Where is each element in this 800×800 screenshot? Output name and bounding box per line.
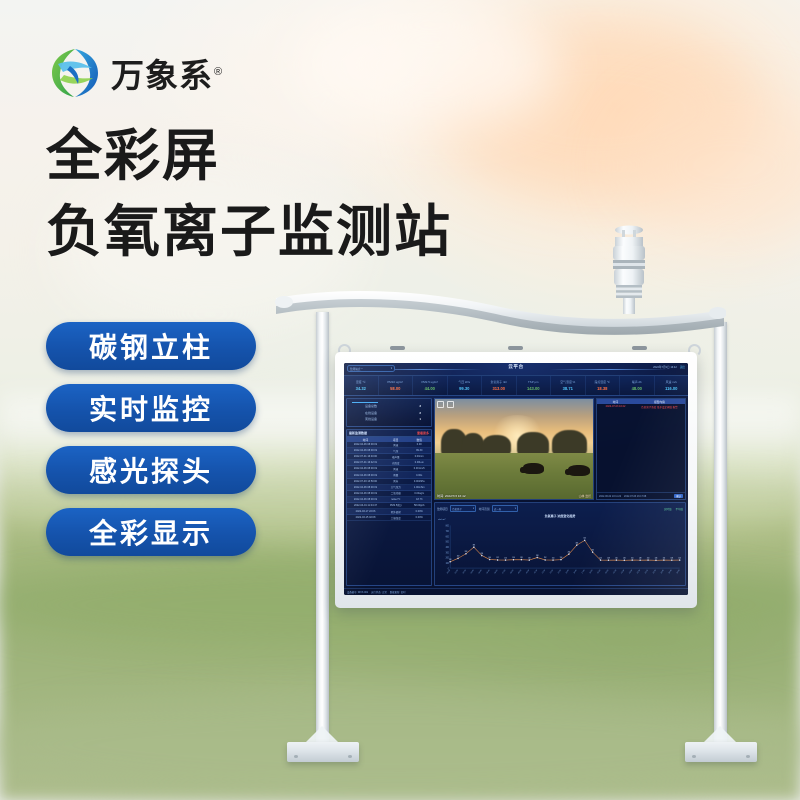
svg-text:23:58: 23:58: [668, 569, 672, 574]
table-cell: 58.00ppb: [407, 504, 431, 507]
table-cell: 二氧化碳: [384, 491, 408, 495]
table-cell: 2022-07-01 16:42:31: [347, 461, 384, 464]
svg-text:600: 600: [446, 536, 450, 538]
chevron-down-icon: ▾: [391, 367, 392, 370]
metric-card: PM10 ug/m³ 58.00: [379, 376, 414, 395]
metric-label: TSP µm: [528, 380, 538, 384]
svg-text:23:45: 23:45: [645, 569, 649, 574]
fullscreen-icon[interactable]: [437, 401, 444, 408]
station-select-value: 监测站点一: [350, 367, 363, 371]
metric-card: 风速 m/s 116.00: [655, 376, 689, 395]
column-header: 报警内容: [634, 400, 685, 404]
column-header: 时间: [597, 400, 634, 404]
headline-secondary: 负氧离子监测站: [46, 204, 452, 260]
alarm-footer-left: 2022-06-02 10:11:22: [599, 495, 621, 498]
table-cell: 99.30: [407, 449, 431, 452]
svg-text:520: 520: [583, 538, 586, 540]
brand-logo: 万象系®: [48, 46, 223, 100]
metric-card: PM2.5 ug/m³ 44.00: [413, 376, 448, 395]
table-cell: 噪声量: [384, 455, 408, 459]
dashboard-header: 云平台 监测站点一 ▾ 2022年7月3日 16:42 退出: [344, 363, 688, 375]
metric-value: 143.00: [527, 386, 540, 391]
metric-label: PM10 ug/m³: [387, 380, 403, 384]
svg-text:158: 158: [520, 557, 523, 559]
table-cell: PM2.5(粒): [384, 503, 408, 507]
camera-row: 时间: 2022/7/3 16:42 山林 监控 时间 报警内容 2022-07…: [434, 398, 686, 500]
metric-value: 38.71: [563, 386, 573, 391]
headline-primary: 全彩屏: [46, 128, 220, 184]
dashboard-footer: 设备编号: WXX-001 运行状态: 正常 数据更新: 实时: [344, 588, 688, 595]
metric-value: 18.38: [597, 386, 607, 391]
table-cell: 气压: [384, 449, 408, 453]
metric-label: 噪声 db: [632, 380, 642, 384]
cow-head: [520, 467, 526, 473]
metric-value: 116.00: [665, 386, 677, 391]
metric-label: 负氧离子 nbr: [490, 380, 507, 384]
svg-text:09:00: 09:00: [518, 569, 522, 574]
feature-badge-full-color-display: 全彩显示: [46, 508, 256, 556]
svg-text:148: 148: [671, 557, 674, 559]
alarm-message: 负氧离子浓度 低于设定阈值 报警: [634, 405, 685, 409]
svg-text:236: 236: [480, 553, 483, 555]
footer-item: 数据更新: 实时: [390, 590, 406, 594]
display-cabinet: 云平台 监测站点一 ▾ 2022年7月3日 16:42 退出 温度 ℃ 34.3…: [335, 352, 697, 608]
header-user-area: 2022年7月3日 16:42 退出: [653, 365, 685, 369]
logo-text: 万象系: [111, 57, 213, 94]
svg-text:11:00: 11:00: [534, 569, 538, 574]
svg-text:150: 150: [528, 557, 531, 559]
table-cell: 2022-04-01 11:04:47: [347, 504, 384, 507]
svg-text:21:00: 21:00: [613, 569, 617, 574]
left-column: 设备总数 3 在线设备 2 离线设备 1: [346, 398, 432, 586]
table-cell: 2022-04-06 08:00:19: [347, 467, 384, 470]
table-cell: 大气压力: [384, 485, 408, 489]
svg-text:118: 118: [449, 559, 451, 561]
alarm-row: 2022-07-03 16:42 负氧离子浓度 低于设定阈值 报警: [597, 404, 685, 409]
metric-value: 48.00: [632, 386, 642, 391]
alarm-footer: 2022-06-02 10:11:22 2022-07-03 16:17:08 …: [597, 492, 685, 500]
chart-filter-label-item: 监测项目: [437, 507, 448, 511]
svg-text:300: 300: [591, 549, 594, 551]
table-cell: 2022-04-06 08:00:19: [347, 498, 384, 501]
table-cell: 2022-04-06 08:00:19: [347, 492, 384, 495]
legend-item: 实时值: [664, 507, 672, 511]
metric-label: PM2.5 ug/m³: [421, 380, 438, 384]
svg-text:182: 182: [457, 556, 460, 558]
svg-text:10:00: 10:00: [526, 569, 530, 574]
table-cell: 紫外辐射: [384, 510, 408, 514]
table-cell: 0.00%: [407, 516, 431, 519]
table-cell: 2022-03-17 22:06: [347, 510, 384, 513]
stat-value: 2: [419, 411, 421, 415]
metric-card: TSP µm 143.00: [517, 376, 552, 395]
cow-head: [565, 469, 571, 475]
metric-label: 露点温度 ℃: [594, 380, 610, 384]
product-poster: 万象系® 全彩屏 负氧离子监测站 碳钢立柱 实时监控 感光探头 全彩显示: [0, 0, 800, 800]
table-cell: 2022-07-03 13:50:00: [347, 480, 384, 483]
chart-item-select[interactable]: 负氧离子 ▾: [450, 505, 476, 512]
metric-label: 温度 ℃: [356, 380, 366, 384]
svg-text:150: 150: [663, 557, 666, 559]
svg-text:198: 198: [536, 555, 539, 557]
table-cell: 土壤温度: [384, 516, 408, 520]
device-stats-panel: 设备总数 3 在线设备 2 离线设备 1: [346, 398, 432, 427]
table-cell: 风速: [384, 443, 408, 447]
footer-item: 设备编号: WXX-001: [347, 590, 368, 594]
table-cell: 0.00 km/h: [407, 467, 431, 470]
svg-text:22:00: 22:00: [621, 569, 625, 574]
cloud: [300, 0, 560, 130]
metric-strip: 温度 ℃ 34.32 PM10 ug/m³ 58.00 PM2.5 ug/m³ …: [344, 375, 688, 396]
metric-card: 噪声 db 48.00: [620, 376, 655, 395]
svg-text:06:00: 06:00: [494, 569, 498, 574]
latest-data-panel: 最新监测数据 查看更多 时间 项目 数值 2022-04-06 08:00:19…: [346, 429, 432, 586]
table-cell: 0.001hPa: [407, 480, 431, 483]
vent-slot: [508, 346, 523, 350]
chart-legend: 实时值 平均值: [664, 507, 683, 511]
metric-label: 风速 m/s: [666, 380, 677, 384]
svg-text:15:00: 15:00: [566, 569, 570, 574]
stat-value: 1: [419, 417, 421, 421]
alarm-time: 2022-07-03 16:42: [597, 405, 634, 408]
chart-title: 负氧离子 浓度变化趋势: [437, 514, 683, 518]
table-cell: 1.00mSm: [407, 486, 431, 489]
station-select[interactable]: 监测站点一 ▾: [347, 365, 395, 372]
metric-value: 313.00: [492, 386, 505, 391]
svg-text:150: 150: [552, 557, 555, 559]
grass-band: [0, 690, 800, 800]
svg-text:05:00: 05:00: [486, 569, 490, 574]
svg-text:300: 300: [446, 552, 450, 554]
snapshot-icon[interactable]: [447, 401, 454, 408]
alarm-confirm-button[interactable]: 确认: [674, 494, 683, 499]
camera-controls[interactable]: [437, 401, 454, 408]
metric-value: 44.00: [425, 386, 435, 391]
cow: [568, 465, 590, 476]
column-header: 项目: [384, 438, 408, 442]
dashboard-body: 设备总数 3 在线设备 2 离线设备 1: [344, 396, 688, 588]
right-column: 时间: 2022/7/3 16:42 山林 监控 时间 报警内容 2022-07…: [434, 398, 686, 586]
stat-label: 离线设备: [365, 417, 377, 421]
chart-range-value: 近一天: [494, 507, 501, 511]
metric-card: 气压 kPa 99.30: [448, 376, 483, 395]
svg-text:148: 148: [607, 557, 610, 559]
table-cell: 0.00: [407, 443, 431, 446]
table-cell: 2022-03-15 02:08: [347, 516, 384, 519]
svg-text:150: 150: [678, 557, 681, 559]
stat-row: 离线设备 1: [365, 417, 421, 421]
svg-text:500: 500: [446, 542, 450, 544]
table-cell: 0.00ug/L: [407, 492, 431, 495]
chart-controls: 监测项目 负氧离子 ▾ 时间范围 近一天 ▾: [437, 505, 683, 512]
chart-plot-area: nbr/cm³ 010020030040050060070080011800:0…: [437, 519, 683, 583]
table-cell: 风向: [384, 479, 408, 483]
table-body: 2022-04-06 08:00:19风速0.002022-04-06 08:0…: [347, 442, 431, 521]
table-cell: 2022-04-06 08:00:19: [347, 443, 384, 446]
logo-wordmark: 万象系®: [111, 49, 223, 97]
anchor-base-plate-right: [685, 742, 757, 762]
led-screen: 云平台 监测站点一 ▾ 2022年7月3日 16:42 退出 温度 ℃ 34.3…: [344, 363, 688, 595]
svg-text:18:00: 18:00: [589, 569, 593, 574]
column-header: 时间: [347, 438, 384, 442]
trend-line-chart: 010020030040050060070080011800:0018201:0…: [437, 519, 683, 583]
camera-feed[interactable]: 时间: 2022/7/3 16:42 山林 监控: [434, 398, 594, 500]
svg-text:13:00: 13:00: [550, 569, 554, 574]
stat-label: 在线设备: [365, 411, 377, 415]
column-header: 数值: [407, 438, 431, 442]
svg-text:150: 150: [647, 557, 650, 559]
section-accent-bar: [352, 402, 378, 403]
carbon-steel-post-left: [316, 312, 329, 752]
svg-text:19:00: 19:00: [597, 569, 601, 574]
svg-text:14:00: 14:00: [558, 569, 562, 574]
svg-text:150: 150: [615, 557, 618, 559]
table-cell: 0.00Lux: [407, 461, 431, 464]
anchor-base-plate-left: [287, 742, 359, 762]
alarm-log-panel: 时间 报警内容 2022-07-03 16:42 负氧离子浓度 低于设定阈值 报…: [596, 398, 686, 500]
svg-text:158: 158: [560, 557, 563, 559]
feature-badge-carbon-steel-post: 碳钢立柱: [46, 322, 256, 370]
svg-text:150: 150: [631, 557, 634, 559]
svg-text:20:00: 20:00: [605, 569, 609, 574]
svg-text:23:59: 23:59: [676, 569, 680, 574]
svg-text:156: 156: [512, 557, 515, 559]
table-cell: 0.00%: [407, 510, 431, 513]
chart-item-value: 负氧离子: [452, 507, 462, 511]
svg-text:04:00: 04:00: [478, 569, 482, 574]
header-datetime: 2022年7月3日 16:42: [653, 365, 677, 369]
footer-item: 运行状态: 正常: [371, 590, 387, 594]
svg-text:160: 160: [488, 557, 491, 559]
chevron-down-icon: ▾: [515, 507, 516, 510]
vent-slot: [632, 346, 647, 350]
alarm-footer-mid: 2022-07-03 16:17:08: [624, 495, 646, 498]
wave-canopy: [274, 286, 726, 348]
svg-text:152: 152: [496, 557, 499, 559]
svg-text:800: 800: [446, 526, 450, 528]
svg-text:268: 268: [465, 551, 468, 553]
svg-text:700: 700: [446, 531, 450, 533]
trademark-symbol: ®: [214, 66, 223, 78]
camera-location-tag: 山林 监控: [579, 494, 591, 498]
table-cell: 0.00mm: [407, 455, 431, 458]
view-more-link[interactable]: 查看更多: [417, 431, 429, 435]
legend-item: 平均值: [675, 507, 683, 511]
metric-value: 99.30: [459, 386, 469, 391]
stat-label: 设备总数: [365, 404, 377, 408]
table-cell: 光照度: [384, 461, 408, 465]
svg-text:146: 146: [623, 557, 626, 559]
svg-text:23:50: 23:50: [653, 569, 657, 574]
table-cell: 风速: [384, 467, 408, 471]
metric-value: 34.32: [356, 386, 366, 391]
panel-title: 最新监测数据: [349, 431, 367, 435]
table-cell: 2022-04-06 08:00:19: [347, 486, 384, 489]
stat-row: 在线设备 2: [365, 411, 421, 415]
vent-slot: [390, 346, 405, 350]
svg-text:16:00: 16:00: [573, 569, 577, 574]
svg-text:262: 262: [568, 551, 571, 553]
logout-button[interactable]: 退出: [680, 365, 685, 369]
table-cell: 2022-04-06 08:00:19: [347, 474, 384, 477]
metric-label: 空气湿度 %: [560, 380, 575, 384]
metric-card: 露点温度 ℃ 18.38: [586, 376, 621, 395]
svg-text:23:30: 23:30: [637, 569, 641, 574]
table-cell: 2022-04-06 08:00:19: [347, 449, 384, 452]
table-cell: 2022-07-01 16:40:00: [347, 455, 384, 458]
carbon-steel-post-right: [714, 322, 727, 752]
metric-label: 气压 kPa: [458, 380, 470, 384]
ultrasonic-weather-sensor: [600, 222, 658, 314]
svg-text:01:00: 01:00: [455, 569, 459, 574]
metric-value: 58.00: [390, 386, 400, 391]
svg-text:150: 150: [504, 557, 507, 559]
table-cell: 雨量: [384, 473, 408, 477]
svg-text:23:55: 23:55: [661, 569, 665, 574]
svg-text:12:00: 12:00: [542, 569, 546, 574]
feature-badge-light-sensor: 感光探头: [46, 446, 256, 494]
dashboard-title: 云平台: [344, 364, 688, 370]
post-gusset: [703, 726, 737, 743]
table-row[interactable]: 2022-03-15 02:08土壤温度0.00%: [347, 515, 431, 521]
chart-range-select[interactable]: 近一天 ▾: [492, 505, 518, 512]
svg-text:17:00: 17:00: [581, 569, 585, 574]
cloud-platform-dashboard: 云平台 监测站点一 ▾ 2022年7月3日 16:42 退出 温度 ℃ 34.3…: [344, 363, 688, 595]
svg-text:400: 400: [446, 547, 450, 549]
svg-text:100: 100: [446, 563, 450, 565]
chart-filter-label-range: 时间范围: [479, 507, 490, 511]
metric-card: 温度 ℃ 34.32: [344, 376, 379, 395]
svg-text:03:00: 03:00: [471, 569, 475, 574]
sphere-swirl-logo-icon: [48, 46, 102, 100]
post-gusset: [305, 726, 339, 743]
table-cell: 18.73: [407, 498, 431, 501]
chevron-down-icon: ▾: [473, 507, 474, 510]
svg-text:146: 146: [655, 557, 658, 559]
svg-text:430: 430: [576, 542, 579, 544]
table-cell: noise/℃: [384, 498, 408, 501]
feature-badge-realtime-monitoring: 实时监控: [46, 384, 256, 432]
svg-text:08:00: 08:00: [510, 569, 514, 574]
feature-badge-list: 碳钢立柱 实时监控 感光探头 全彩显示: [46, 322, 256, 556]
panel-header: 最新监测数据 查看更多: [347, 430, 431, 437]
svg-text:02:00: 02:00: [463, 569, 467, 574]
svg-text:23:00: 23:00: [629, 569, 633, 574]
svg-text:07:00: 07:00: [502, 569, 506, 574]
camera-timestamp: 时间: 2022/7/3 16:42: [437, 493, 466, 498]
trend-chart-panel: 监测项目 负氧离子 ▾ 时间范围 近一天 ▾: [434, 502, 686, 586]
stat-row: 设备总数 3: [365, 404, 421, 408]
svg-text:392: 392: [473, 544, 476, 546]
metric-card: 空气湿度 % 38.71: [551, 376, 586, 395]
metric-card: 负氧离子 nbr 313.00: [482, 376, 517, 395]
svg-text:152: 152: [544, 557, 547, 559]
table-cell: 0.00s: [407, 474, 431, 477]
svg-text:148: 148: [639, 557, 642, 559]
svg-text:150: 150: [599, 557, 602, 559]
stat-value: 3: [419, 404, 421, 408]
